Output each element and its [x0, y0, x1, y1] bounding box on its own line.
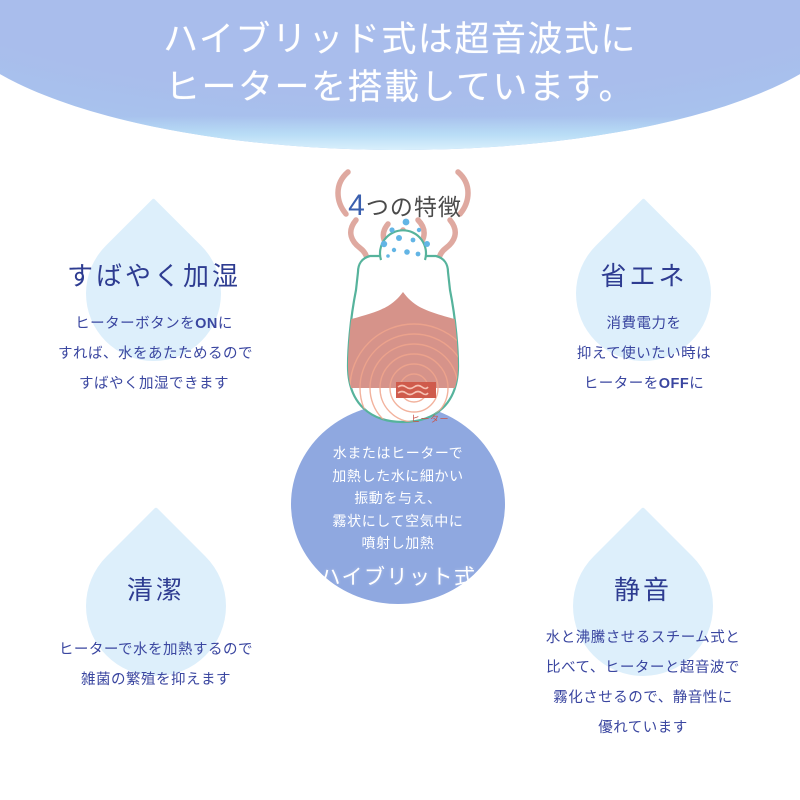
droplet-title: 清潔 [58, 570, 254, 607]
droplet-body-line-1: 水と沸騰させるスチーム式と [545, 623, 741, 653]
droplet-body-line-2: 抑えて使いたい時は [548, 339, 740, 369]
droplet-body-line-2: すれば、水をあたためるので [58, 339, 250, 369]
droplet-body-line-3: 霧化させるので、静音性に [545, 683, 741, 713]
droplet-body-line-2: 比べて、ヒーターと超音波で [545, 653, 741, 683]
droplet-title: すばやく加湿 [58, 256, 250, 293]
droplet-content: 静音 水と沸騰させるスチーム式と 比べて、ヒーターと超音波で 霧化させるので、静… [545, 570, 741, 743]
droplet-body: ヒーターで水を加熱するので 雑菌の繁殖を抑えます [58, 635, 254, 695]
droplet-body-line-1: ヒーターボタンをONに [58, 309, 250, 339]
droplet-content: 清潔 ヒーターで水を加熱するので 雑菌の繁殖を抑えます [58, 570, 254, 695]
droplet-body-line-1: 消費電力を [548, 309, 740, 339]
droplet-body-line-1: ヒーターで水を加熱するので [58, 635, 254, 665]
header-title-line-2: ヒーターを搭載しています。 [0, 64, 800, 112]
center-circle-description: 水またはヒーターで 加熱した水に細かい 振動を与え、 霧状にして空気中に 噴射し… [291, 442, 505, 555]
droplet-title: 省エネ [548, 256, 740, 293]
droplet-body: ヒーターボタンをONに すれば、水をあたためるので すばやく加湿できます [58, 309, 250, 399]
droplet-content: 省エネ 消費電力を 抑えて使いたい時は ヒーターをOFFに [548, 256, 740, 399]
droplet-body: 消費電力を 抑えて使いたい時は ヒーターをOFFに [548, 309, 740, 399]
features-heading-rest: つの特徴 [366, 194, 462, 220]
droplet-body: 水と沸騰させるスチーム式と 比べて、ヒーターと超音波で 霧化させるので、静音性に… [545, 623, 741, 743]
center-line-5: 噴射し加熱 [291, 532, 505, 555]
features-count: 4 [348, 189, 366, 222]
heater-block [396, 382, 436, 398]
header-title: ハイブリッド式は超音波式に ヒーターを搭載しています。 [0, 16, 800, 112]
droplet-content: すばやく加湿 ヒーターボタンをONに すれば、水をあたためるので すばやく加湿で… [58, 256, 250, 399]
heater-label: ヒーター [385, 412, 475, 425]
center-line-3: 振動を与え、 [291, 487, 505, 510]
center-line-4: 霧状にして空気中に [291, 510, 505, 533]
droplet-body-line-4: 優れています [545, 713, 741, 743]
droplet-title: 静音 [545, 570, 741, 607]
droplet-body-line-3: すばやく加湿できます [58, 369, 250, 399]
center-line-2: 加熱した水に細かい [291, 465, 505, 488]
droplet-body-line-2: 雑菌の繁殖を抑えます [58, 665, 254, 695]
center-circle-label: ハイブリット式 [291, 561, 505, 591]
features-heading: 4つの特徴 [330, 188, 480, 223]
header-title-line-1: ハイブリッド式は超音波式に [0, 16, 800, 64]
infographic-canvas: ハイブリッド式は超音波式に ヒーターを搭載しています。 4つの特徴 [0, 0, 800, 800]
droplet-body-line-3: ヒーターをOFFに [548, 369, 740, 399]
center-line-1: 水またはヒーターで [291, 442, 505, 465]
